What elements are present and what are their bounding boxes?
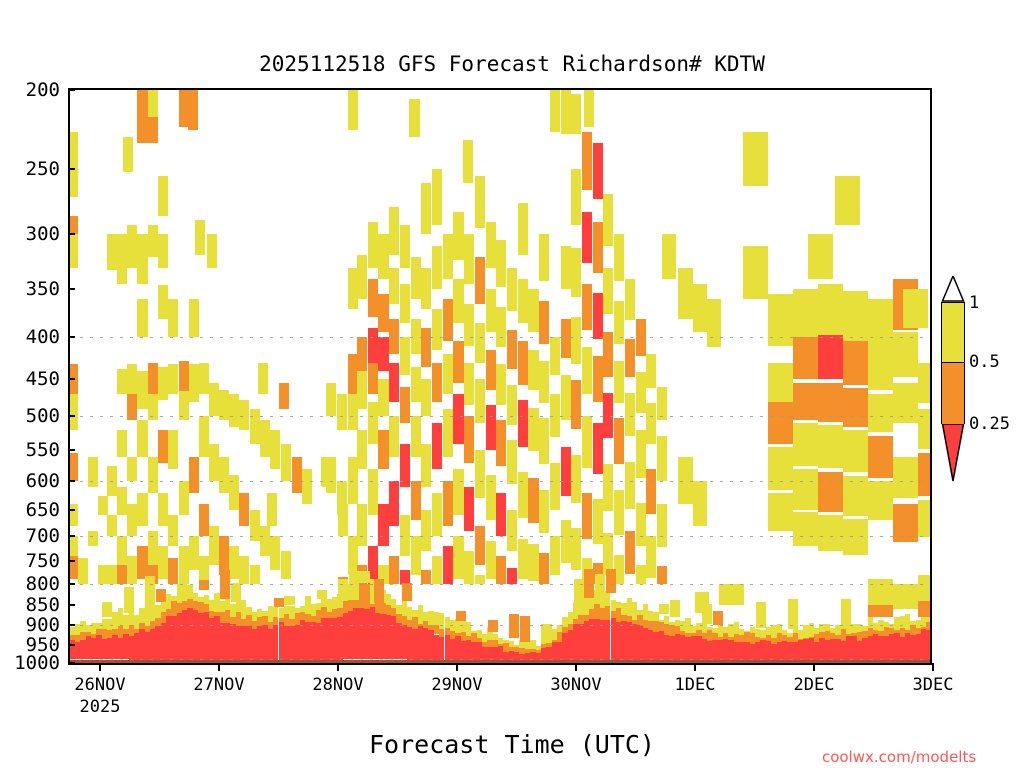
- heatmap-cell: [443, 354, 453, 394]
- heatmap-cell: [368, 363, 378, 395]
- heatmap-cell: [432, 363, 442, 402]
- plot-area: [68, 88, 932, 665]
- heatmap-cell: [107, 234, 117, 270]
- heatmap-cell: [68, 453, 78, 481]
- heatmap-cell: [400, 570, 410, 584]
- heatmap-cell: [432, 423, 442, 469]
- boundary-layer-cell: [199, 580, 209, 590]
- heatmap-cell: [432, 309, 442, 350]
- heatmap-cell: [158, 176, 168, 216]
- heatmap-cell: [507, 330, 517, 370]
- y-axis-tick: [68, 560, 75, 562]
- heatmap-cell: [464, 487, 474, 531]
- heatmap-cell: [127, 394, 137, 420]
- boundary-layer-cell: [317, 590, 327, 599]
- boundary-layer-cell: [102, 602, 112, 617]
- heatmap-cell: [636, 503, 646, 546]
- colorbar-segment-orange: [941, 362, 965, 424]
- heatmap-cell: [793, 289, 818, 337]
- heatmap-cell: [818, 284, 843, 335]
- y-axis-label: 350: [0, 278, 60, 300]
- y-axis-label: 1000: [0, 652, 60, 674]
- heatmap-cell: [400, 387, 410, 424]
- heatmap-cell: [137, 493, 147, 526]
- heatmap-cell: [88, 531, 98, 546]
- heatmap-cell: [486, 289, 496, 332]
- heatmap-cell: [411, 416, 421, 456]
- heatmap-cell: [98, 496, 108, 515]
- heatmap-cell: [571, 248, 581, 297]
- heatmap-cell: [239, 556, 249, 584]
- heatmap-cell: [818, 472, 843, 512]
- heatmap-cell: [127, 504, 137, 536]
- x-axis-tick: [694, 663, 696, 671]
- heatmap-cell: [475, 176, 485, 228]
- heatmap-cell: [443, 546, 453, 584]
- heatmap-cell: [646, 403, 656, 443]
- heatmap-cell: [158, 234, 168, 268]
- heatmap-cell: [550, 394, 560, 437]
- heatmap-cell: [148, 225, 158, 258]
- heatmap-cell: [475, 575, 485, 584]
- heatmap-cell: [475, 526, 485, 566]
- heatmap-cell: [793, 383, 818, 420]
- heatmap-cell: [693, 481, 707, 526]
- x-axis-year-label: 2025: [30, 697, 170, 717]
- heatmap-cell: [507, 510, 517, 551]
- boundary-layer-cell: [231, 583, 241, 602]
- x-axis-tick: [813, 663, 815, 671]
- heatmap-cell: [818, 515, 843, 551]
- colorbar-top-arrow-icon: [941, 276, 965, 302]
- heatmap-cell: [868, 394, 893, 431]
- heatmap-cell: [199, 556, 209, 584]
- heatmap-cell: [368, 328, 378, 363]
- heatmap-cell: [496, 556, 506, 584]
- y-axis-label: 700: [0, 525, 60, 547]
- heatmap-cell: [411, 257, 421, 299]
- heatmap-cell: [229, 394, 239, 427]
- heatmap-cell: [168, 558, 178, 583]
- heatmap-cell: [662, 234, 676, 279]
- heatmap-cell: [400, 515, 410, 556]
- heatmap-cell: [258, 363, 268, 395]
- heatmap-cell: [189, 536, 199, 570]
- heatmap-cell: [270, 536, 280, 570]
- heatmap-cell: [475, 257, 485, 304]
- heatmap-cell: [646, 469, 656, 514]
- heatmap-cell: [443, 234, 453, 279]
- heatmap-cell: [188, 90, 198, 130]
- y-axis-label: 400: [0, 326, 60, 348]
- colorbar-segment-yellow: [941, 302, 965, 362]
- y-axis-label: 850: [0, 594, 60, 616]
- heatmap-cell: [550, 536, 560, 575]
- heatmap-cell: [539, 361, 549, 403]
- heatmap-cell: [389, 319, 399, 355]
- heatmap-cell: [389, 481, 399, 526]
- heatmap-cell: [893, 457, 918, 499]
- terrain-fill: [68, 660, 932, 663]
- heatmap-cell: [389, 556, 399, 584]
- heatmap-cell: [158, 430, 168, 463]
- heatmap-cell: [539, 418, 549, 464]
- heatmap-cell: [378, 234, 388, 279]
- heatmap-cell: [561, 520, 571, 563]
- heatmap-cell: [646, 354, 656, 388]
- boundary-layer-cell: [509, 614, 519, 638]
- heatmap-cell: [550, 337, 560, 375]
- heatmap-cell: [432, 169, 442, 224]
- heatmap-cell: [378, 337, 388, 371]
- heatmap-cell: [868, 299, 893, 347]
- boundary-layer-cell: [402, 583, 412, 601]
- heatmap-cell: [843, 476, 868, 516]
- heatmap-cell: [518, 400, 528, 447]
- heatmap-cell: [550, 90, 560, 132]
- heatmap-cell: [843, 388, 868, 427]
- heatmap-cell: [127, 457, 137, 482]
- heatmap-cell: [518, 203, 528, 255]
- heatmap-cell: [78, 558, 88, 583]
- heatmap-cell: [550, 463, 560, 510]
- heatmap-cell: [625, 339, 635, 378]
- heatmap-cell: [168, 299, 178, 337]
- heatmap-cell: [561, 319, 571, 359]
- heatmap-cell: [389, 207, 399, 255]
- boundary-layer-cell: [456, 611, 466, 622]
- heatmap-cell: [219, 457, 229, 493]
- heatmap-cell: [793, 469, 818, 510]
- heatmap-cell: [453, 469, 463, 515]
- boundary-layer-cell: [713, 611, 723, 625]
- heatmap-cell: [357, 430, 367, 469]
- heatmap-cell: [453, 394, 463, 443]
- heatmap-cell: [843, 430, 868, 472]
- heatmap-cell: [432, 493, 442, 536]
- boundary-layer-cell: [338, 579, 348, 601]
- heatmap-cell: [199, 363, 209, 395]
- heatmap-cell: [768, 447, 793, 490]
- boundary-layer-cell: [274, 598, 284, 607]
- heatmap-cell: [168, 515, 178, 546]
- y-axis-label: 450: [0, 368, 60, 390]
- heatmap-cell: [148, 457, 158, 493]
- y-axis-label: 550: [0, 439, 60, 461]
- heatmap-cell: [893, 383, 918, 424]
- boundary-layer-cell: [893, 584, 918, 610]
- x-axis-tick: [337, 663, 339, 671]
- y-axis-tick: [68, 624, 75, 626]
- heatmap-cell: [486, 350, 496, 391]
- heatmap-cell: [593, 293, 603, 338]
- boundary-layer-cell: [284, 596, 294, 605]
- heatmap-cell: [768, 363, 793, 402]
- heatmap-cell: [625, 462, 635, 509]
- heatmap-cell: [270, 430, 280, 469]
- heatmap-cell: [808, 234, 833, 279]
- heatmap-cell: [368, 279, 378, 317]
- heatmap-cell: [678, 268, 692, 318]
- heatmap-cell: [625, 393, 635, 436]
- heatmap-cell: [117, 369, 127, 394]
- boundary-layer-cell: [926, 630, 931, 660]
- heatmap-cell: [835, 176, 860, 224]
- heatmap-cell: [292, 457, 302, 493]
- heatmap-cell: [195, 220, 205, 255]
- heatmap-cell: [117, 430, 127, 456]
- boundary-layer-cell: [359, 584, 369, 606]
- heatmap-cell: [636, 372, 646, 412]
- heatmap-cell: [148, 363, 158, 395]
- heatmap-cell: [818, 383, 843, 422]
- boundary-layer-cell: [926, 622, 931, 631]
- heatmap-cell: [843, 291, 868, 341]
- heatmap-cell: [693, 284, 707, 332]
- heatmap-cell: [378, 504, 388, 546]
- boundary-layer-cell: [156, 589, 166, 602]
- heatmap-cell: [411, 536, 421, 575]
- heatmap-cell: [189, 457, 199, 493]
- heatmap-cell: [539, 301, 549, 344]
- heatmap-cell: [539, 234, 549, 281]
- heatmap-cell: [338, 504, 348, 536]
- y-axis-label: 600: [0, 470, 60, 492]
- heatmap-cell: [918, 409, 932, 449]
- boundary-layer-cell: [756, 602, 766, 628]
- heatmap-cell: [117, 234, 127, 284]
- heatmap-cell: [199, 504, 209, 536]
- heatmap-cell: [88, 457, 98, 487]
- heatmap-cell: [68, 234, 78, 268]
- x-axis-tick: [932, 663, 934, 671]
- heatmap-cell: [657, 504, 667, 547]
- heatmap-cell: [421, 570, 431, 584]
- y-axis-label: 250: [0, 158, 60, 180]
- heatmap-cell: [657, 566, 667, 583]
- y-axis-label: 300: [0, 223, 60, 245]
- heatmap-cell: [127, 364, 137, 394]
- heatmap-cell: [389, 363, 399, 402]
- y-axis-tick: [68, 662, 75, 664]
- heatmap-cell: [593, 423, 603, 474]
- heatmap-cell: [158, 285, 168, 318]
- x-axis-tick: [575, 663, 577, 671]
- boundary-layer-cell: [918, 575, 932, 601]
- heatmap-cell: [475, 450, 485, 498]
- heatmap-cell: [127, 556, 137, 584]
- boundary-layer-cell: [670, 600, 680, 618]
- heatmap-cell: [768, 402, 793, 444]
- heatmap-cell: [400, 444, 410, 487]
- heatmap-cell: [464, 304, 474, 345]
- heatmap-cell: [107, 565, 117, 583]
- heatmap-cell: [528, 544, 538, 582]
- heatmap-cell: [582, 347, 592, 394]
- heatmap-cell: [137, 90, 147, 121]
- heatmap-cell: [593, 356, 603, 402]
- heatmap-cell: [464, 551, 474, 584]
- heatmap-cell: [893, 504, 918, 542]
- heatmap-cell: [518, 279, 528, 323]
- heatmap-cell: [357, 371, 367, 409]
- heatmap-cell: [768, 294, 793, 345]
- heatmap-cell: [496, 493, 506, 536]
- heatmap-cell: [348, 90, 358, 130]
- heatmap-cell: [302, 469, 312, 504]
- heatmap-cell: [584, 90, 594, 127]
- heatmap-cell: [614, 361, 624, 403]
- heatmap-cell: [368, 402, 378, 444]
- boundary-layer-cell: [719, 584, 744, 606]
- heatmap-cell: [137, 371, 147, 409]
- heatmap-cell: [486, 475, 496, 520]
- heatmap-cell: [281, 551, 291, 579]
- heatmap-cell: [603, 194, 613, 246]
- heatmap-cell: [357, 255, 367, 299]
- heatmap-cell: [421, 328, 431, 367]
- heatmap-cell: [614, 418, 624, 464]
- heatmap-cell: [486, 405, 496, 450]
- heatmap-cell: [239, 400, 249, 430]
- heatmap-cell: [528, 478, 538, 523]
- heatmap-cell: [199, 416, 209, 456]
- heatmap-cell: [207, 234, 217, 268]
- heatmap-cell: [209, 444, 219, 482]
- y-axis-tick: [68, 583, 75, 585]
- colorbar-label-mid: 0.5: [969, 352, 1000, 372]
- heatmap-cell: [432, 556, 442, 584]
- heatmap-cell: [593, 222, 603, 272]
- heatmap-cell: [646, 536, 656, 578]
- heatmap-cell: [179, 546, 189, 584]
- heatmap-cell: [267, 493, 277, 526]
- heatmap-cell: [321, 457, 331, 487]
- heatmap-cell: [843, 519, 868, 554]
- heatmap-cell: [158, 493, 168, 526]
- heatmap-cell: [818, 335, 843, 379]
- heatmap-cell: [582, 416, 592, 468]
- heatmap-cell: [117, 487, 127, 515]
- y-axis-label: 200: [0, 79, 60, 101]
- heatmap-cell: [250, 565, 260, 583]
- heatmap-cell: [793, 512, 818, 546]
- heatmap-cell: [421, 510, 431, 551]
- heatmap-cell: [421, 268, 431, 309]
- boundary-layer-cell: [574, 579, 584, 605]
- heatmap-cell: [475, 379, 485, 424]
- heatmap-cell: [868, 347, 893, 390]
- heatmap-cell: [389, 416, 399, 456]
- y-axis-tick: [68, 509, 75, 511]
- heatmap-cell: [496, 364, 506, 405]
- heatmap-cell: [443, 409, 453, 457]
- plot-frame: [68, 88, 932, 665]
- heatmap-cell: [432, 246, 442, 289]
- y-axis-tick: [68, 535, 75, 537]
- x-axis-tick: [218, 663, 220, 671]
- y-axis-label: 500: [0, 405, 60, 427]
- y-axis-label: 800: [0, 573, 60, 595]
- heatmap-cell: [443, 481, 453, 526]
- heatmap-cell: [453, 212, 463, 259]
- y-axis-tick: [68, 168, 75, 170]
- heatmap-cell: [793, 423, 818, 466]
- heatmap-cell: [107, 466, 117, 496]
- heatmap-cell: [818, 425, 843, 468]
- heatmap-cell: [326, 383, 336, 417]
- heatmap-cell: [464, 234, 474, 284]
- heatmap-cell: [636, 565, 646, 583]
- y-axis-tick: [68, 233, 75, 235]
- heatmap-cell: [657, 436, 667, 482]
- y-axis-tick: [68, 415, 75, 417]
- heatmap-cell: [179, 391, 189, 420]
- heatmap-cell: [463, 140, 473, 184]
- boundary-layer-cell: [488, 620, 498, 632]
- heatmap-cell: [614, 234, 624, 281]
- boundary-layer-cell: [595, 574, 605, 594]
- heatmap-cell: [179, 481, 189, 515]
- heatmap-cell: [518, 472, 528, 518]
- heatmap-cell: [614, 301, 624, 344]
- boundary-layer-cell: [788, 599, 798, 628]
- heatmap-cell: [561, 90, 571, 134]
- heatmap-cell: [421, 183, 431, 234]
- heatmap-cell: [260, 420, 270, 457]
- heatmap-cell: [148, 531, 158, 565]
- colorbar: 1 0.5 0.25: [941, 302, 965, 457]
- heatmap-cell: [189, 364, 199, 402]
- heatmap-cell: [148, 394, 158, 420]
- heatmap-cell: [707, 299, 721, 347]
- heatmap-cell: [625, 279, 635, 320]
- heatmap-cell: [68, 132, 78, 197]
- heatmap-cell: [68, 504, 78, 526]
- heatmap-cell: [593, 143, 603, 200]
- heatmap-cell: [281, 444, 291, 482]
- heatmap-cell: [411, 367, 421, 402]
- heatmap-cell: [123, 137, 133, 173]
- heatmap-cell: [582, 132, 592, 190]
- heatmap-cell: [614, 490, 624, 535]
- heatmap-cell: [137, 420, 147, 457]
- heatmap-cell: [168, 364, 178, 394]
- boundary-layer-cell: [374, 579, 384, 603]
- heatmap-cell: [678, 457, 692, 505]
- boundary-layer-cell: [695, 592, 709, 613]
- boundary-layer-cell: [918, 601, 932, 618]
- heatmap-cell: [743, 132, 768, 186]
- heatmap-cell: [443, 299, 453, 341]
- heatmap-cell: [486, 541, 496, 579]
- heatmap-cell: [507, 568, 517, 584]
- heatmap-cell: [603, 332, 613, 377]
- heatmap-cell: [518, 341, 528, 385]
- y-axis-tick: [68, 288, 75, 290]
- heatmap-cell: [189, 299, 199, 337]
- boundary-layer-cell: [124, 587, 134, 612]
- heatmap-cell: [137, 121, 147, 143]
- heatmap-cell: [496, 420, 506, 466]
- heatmap-cell: [561, 246, 571, 289]
- heatmap-cell: [657, 387, 667, 420]
- heatmap-cell: [571, 528, 581, 570]
- heatmap-cell: [918, 363, 932, 404]
- colorbar-label-bottom: 0.25: [969, 414, 1010, 434]
- heatmap-cell: [496, 307, 506, 347]
- y-axis-tick: [68, 378, 75, 380]
